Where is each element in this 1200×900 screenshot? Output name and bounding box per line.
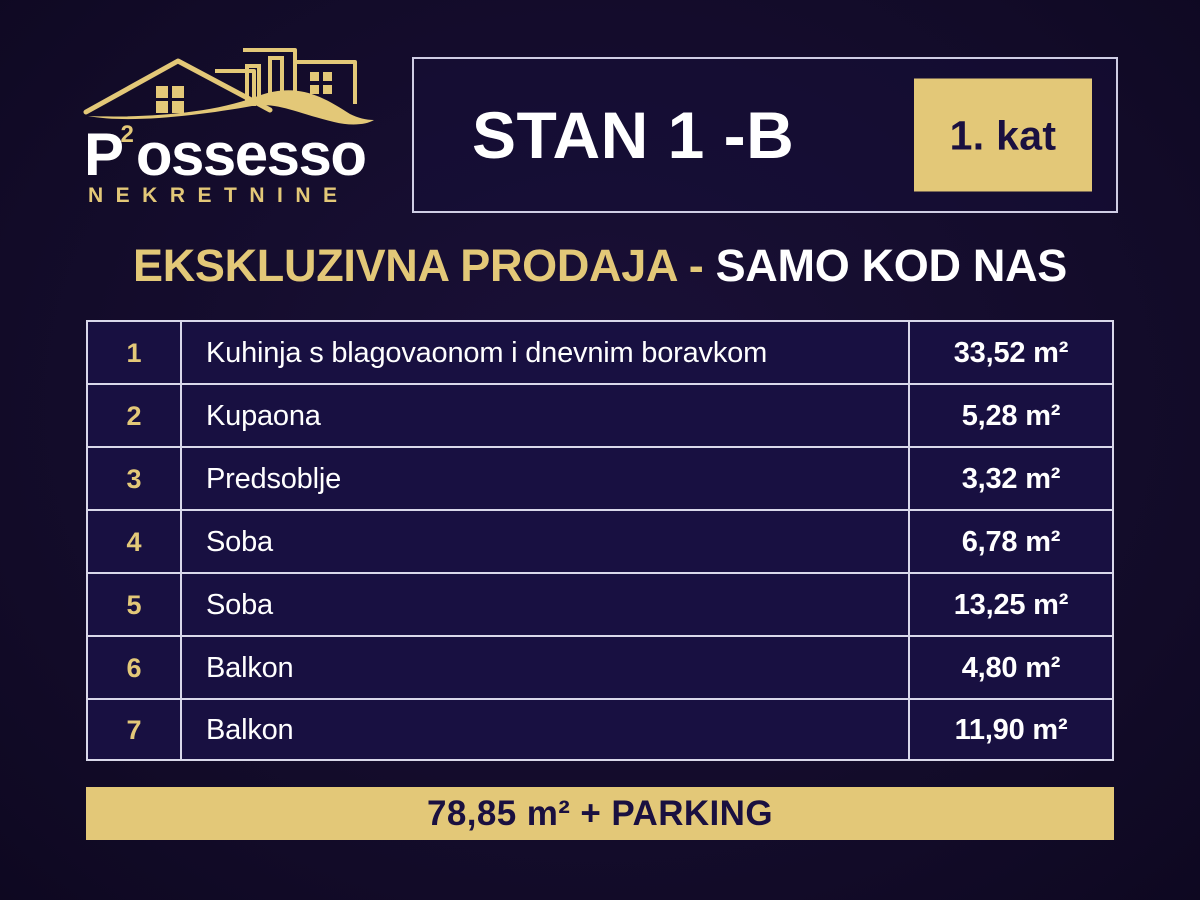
logo-wordmark-prefix: P	[84, 121, 123, 188]
row-number: 6	[88, 637, 182, 698]
row-number: 1	[88, 322, 182, 383]
tagline: EKSKLUZIVNA PRODAJA - SAMO KOD NAS	[0, 238, 1200, 294]
apartment-listing-poster: P2ossesso NEKRETNINE STAN 1 -B 1. kat EK…	[0, 0, 1200, 900]
logo-subtitle: NEKRETNINE	[88, 184, 350, 208]
floor-badge: 1. kat	[914, 79, 1092, 192]
row-number: 7	[88, 700, 182, 759]
table-row: 2 Kupaona 5,28 m²	[86, 383, 1114, 446]
poster-header: P2ossesso NEKRETNINE STAN 1 -B 1. kat	[0, 0, 1200, 230]
total-area-label: 78,85 m² + PARKING	[427, 795, 773, 833]
room-area: 11,90 m²	[910, 700, 1112, 759]
table-row: 6 Balkon 4,80 m²	[86, 635, 1114, 698]
logo-wordmark-rest: ossesso	[136, 121, 366, 188]
room-area: 4,80 m²	[910, 637, 1112, 698]
total-area-bar: 78,85 m² + PARKING	[86, 787, 1114, 840]
room-name: Kuhinja s blagovaonom i dnevnim boravkom	[182, 322, 910, 383]
row-number: 3	[88, 448, 182, 509]
row-number: 4	[88, 511, 182, 572]
logo-wordmark: P2ossesso	[84, 116, 384, 178]
room-name: Soba	[182, 574, 910, 635]
room-name: Kupaona	[182, 385, 910, 446]
room-name: Balkon	[182, 700, 910, 759]
row-number: 5	[88, 574, 182, 635]
room-area-table: 1 Kuhinja s blagovaonom i dnevnim boravk…	[86, 320, 1114, 761]
house-building-roofline-icon	[82, 44, 382, 126]
tagline-gold-part: EKSKLUZIVNA PRODAJA -	[133, 240, 716, 291]
page-title: STAN 1 -B	[472, 100, 794, 170]
room-area: 6,78 m²	[910, 511, 1112, 572]
row-number: 2	[88, 385, 182, 446]
room-name: Balkon	[182, 637, 910, 698]
room-area: 5,28 m²	[910, 385, 1112, 446]
company-logo: P2ossesso NEKRETNINE	[82, 44, 392, 214]
room-area: 33,52 m²	[910, 322, 1112, 383]
table-row: 4 Soba 6,78 m²	[86, 509, 1114, 572]
room-name: Predsoblje	[182, 448, 910, 509]
room-area: 3,32 m²	[910, 448, 1112, 509]
table-row: 3 Predsoblje 3,32 m²	[86, 446, 1114, 509]
floor-badge-label: 1. kat	[950, 113, 1057, 157]
tagline-white-part: SAMO KOD NAS	[716, 240, 1067, 291]
table-row: 5 Soba 13,25 m²	[86, 572, 1114, 635]
room-area: 13,25 m²	[910, 574, 1112, 635]
room-name: Soba	[182, 511, 910, 572]
table-row: 1 Kuhinja s blagovaonom i dnevnim boravk…	[86, 320, 1114, 383]
table-row: 7 Balkon 11,90 m²	[86, 698, 1114, 761]
unit-title-box: STAN 1 -B 1. kat	[412, 57, 1118, 213]
logo-wordmark-superscript: 2	[121, 121, 134, 148]
